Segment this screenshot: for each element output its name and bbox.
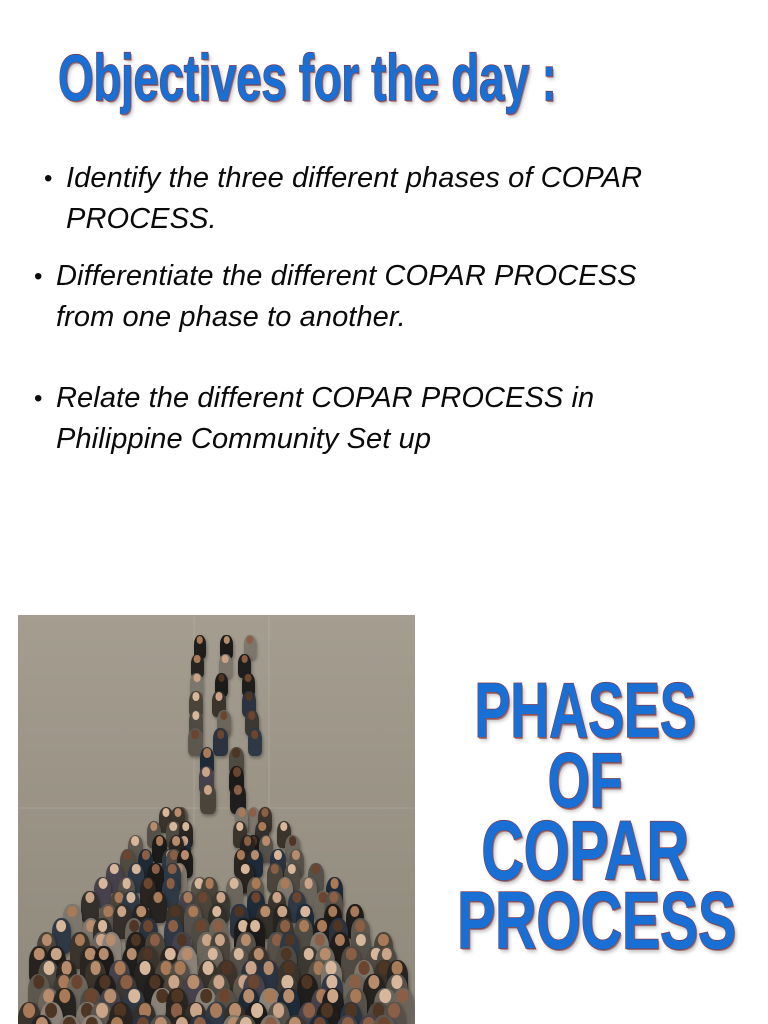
crowd-person-head — [153, 892, 162, 903]
crowd-person-head — [68, 906, 77, 918]
crowd-person-head — [105, 989, 117, 1003]
crowd-person-head — [350, 906, 359, 918]
crowd-person-head — [222, 655, 229, 663]
crowd-person-head — [204, 785, 212, 795]
crowd-person-head — [304, 878, 313, 889]
crowd-person-head — [182, 822, 189, 831]
crowd-person-head — [149, 975, 160, 989]
crowd-person-head — [171, 906, 180, 918]
crowd-person-head — [262, 836, 270, 846]
crowd-person-head — [216, 892, 225, 903]
crowd-person-head — [110, 864, 118, 874]
crowd-person-head — [289, 1017, 301, 1024]
crowd-person-head — [241, 864, 249, 874]
list-item: • Relate the different COPAR PROCESS in … — [34, 378, 768, 460]
crowd-person-head — [326, 961, 337, 974]
title-area: Objectives for the day : — [0, 40, 768, 130]
crowd-person-head — [170, 822, 177, 831]
crowd-person-head — [314, 1017, 326, 1024]
crowd-person-head — [98, 878, 107, 889]
crowd-person-head — [86, 1017, 98, 1024]
crowd-person-head — [196, 920, 206, 932]
crowd-person-head — [199, 892, 208, 903]
crowd-person-head — [235, 906, 244, 918]
crowd-person-head — [188, 975, 199, 989]
crowd-person-head — [203, 961, 214, 974]
crowd-person-head — [221, 961, 232, 974]
crowd-person-head — [217, 730, 225, 739]
crowd-person-head — [90, 961, 101, 974]
crowd-person-head — [182, 948, 193, 961]
crowd-person-head — [251, 878, 260, 889]
crowd-person-head — [223, 636, 229, 644]
bullet-marker-icon: • — [34, 256, 56, 297]
crowd-person-head — [51, 948, 62, 961]
crowd-person-head — [330, 878, 339, 889]
crowd-person-head — [251, 730, 259, 739]
crowd-person-head — [265, 1017, 277, 1024]
crowd-person-head — [86, 892, 95, 903]
list-item-text: Relate the different COPAR PROCESS in Ph… — [56, 378, 768, 460]
crowd-person-head — [183, 892, 192, 903]
crowd-person-head — [241, 655, 248, 663]
crowd-person-head — [114, 961, 125, 974]
crowd-person-head — [346, 948, 357, 961]
crowd-person-head — [271, 864, 279, 874]
crowd-person-head — [233, 748, 241, 757]
crowd-person-head — [205, 878, 214, 889]
crowd-person-head — [283, 961, 294, 974]
pavement-seam — [268, 615, 270, 811]
crowd-person-head — [212, 906, 221, 918]
crowd-person-head — [303, 948, 314, 961]
crowd-person-head — [288, 864, 296, 874]
crowd-person-head — [98, 948, 109, 961]
crowd-person-head — [218, 674, 225, 682]
crowd-person-head — [289, 836, 297, 846]
crowd-person-head — [368, 975, 379, 989]
crowd-person-head — [168, 864, 176, 874]
crowd-person-head — [207, 948, 218, 961]
crowd-person-head — [281, 948, 292, 961]
crowd-person-head — [33, 975, 44, 989]
crowd-person-head — [129, 920, 139, 932]
crowd-person-head — [248, 711, 255, 720]
crowd-person-head — [117, 906, 126, 918]
crowd-person-head — [317, 920, 327, 932]
crowd-person-head — [188, 906, 197, 918]
crowd-person-head — [193, 674, 200, 682]
crowd-person-head — [359, 961, 370, 974]
crowd-person-head — [59, 989, 71, 1003]
crowd-person-head — [143, 920, 153, 932]
crowd-person-head — [106, 934, 116, 946]
crowd-person-head — [245, 674, 252, 682]
crowd-person-head — [34, 948, 45, 961]
crowd-person-head — [397, 989, 409, 1003]
crowd-person-head — [272, 892, 281, 903]
bullet-marker-icon: • — [44, 158, 66, 199]
crowd-person-head — [334, 920, 344, 932]
crowd-person-head — [382, 948, 393, 961]
crowd-person-head — [35, 1017, 47, 1024]
crowd-person-head — [150, 822, 157, 831]
crowd-person-head — [162, 808, 169, 817]
crowd-person-head — [378, 1017, 390, 1024]
crowd-person-head — [192, 711, 199, 720]
crowd-person-head — [341, 1017, 353, 1024]
crowd-person-head — [250, 808, 257, 817]
crowd-person-head — [142, 948, 153, 961]
crowd-person-head — [75, 934, 85, 946]
crowd-person — [200, 784, 216, 813]
crowd-person-head — [132, 836, 140, 846]
crowd-person-head — [329, 892, 338, 903]
crowd-person-head — [61, 961, 72, 974]
crowd-person-head — [194, 655, 201, 663]
crowd-person-head — [151, 864, 159, 874]
crowd-person-head — [238, 808, 245, 817]
crowd-photo — [18, 615, 415, 1024]
crowd-person-head — [302, 975, 313, 989]
crowd-person-head — [262, 808, 269, 817]
crowd-person-head — [261, 906, 270, 918]
crowd-person-head — [247, 636, 253, 644]
crowd-person-head — [277, 906, 286, 918]
crowd-person-head — [175, 808, 182, 817]
crowd-person-head — [293, 892, 302, 903]
crowd-person-head — [132, 864, 140, 874]
crowd-person-head — [241, 934, 251, 946]
crowd-person-head — [24, 1003, 36, 1018]
crowd-person-head — [172, 836, 180, 846]
crowd-person-head — [253, 948, 264, 961]
slide: Objectives for the day : • Identify the … — [0, 0, 768, 1024]
crowd-person-head — [356, 934, 366, 946]
crowd-person-head — [320, 948, 331, 961]
crowd-person-head — [103, 906, 112, 918]
crowd-person-head — [215, 934, 225, 946]
crowd-person-head — [193, 692, 200, 701]
list-item: • Identify the three different phases of… — [44, 158, 768, 240]
crowd-person-head — [234, 948, 245, 961]
crowd-person-head — [122, 878, 131, 889]
bullet-marker-icon: • — [34, 378, 56, 419]
crowd-person-head — [285, 934, 295, 946]
crowd-person-head — [220, 711, 227, 720]
crowd-person-head — [46, 1003, 58, 1018]
crowd-person-head — [251, 892, 260, 903]
crowd-person-head — [264, 989, 276, 1003]
crowd-person-head — [219, 989, 231, 1003]
crowd-person-head — [181, 850, 189, 860]
crowd-person-head — [274, 850, 282, 860]
crowd-person-head — [166, 878, 175, 889]
crowd-person-head — [311, 864, 319, 874]
crowd-person-head — [234, 785, 242, 795]
pavement-seam — [18, 807, 415, 809]
crowd-person-head — [328, 906, 337, 918]
crowd-person-head — [144, 878, 153, 889]
crowd-person-head — [202, 767, 210, 777]
crowd-person-head — [251, 1003, 263, 1018]
crowd-person-head — [210, 1003, 222, 1018]
crowd-person-head — [213, 920, 223, 932]
crowd-person-head — [126, 948, 137, 961]
crowd-person-head — [121, 975, 132, 989]
list-item-text: Identify the three different phases of C… — [66, 158, 716, 240]
crowd-person-head — [280, 822, 287, 831]
crowd-person-head — [246, 961, 257, 974]
crowd-person-head — [201, 989, 213, 1003]
crowd-person-head — [168, 920, 178, 932]
crowd-person-head — [259, 822, 266, 831]
crowd-person-head — [355, 920, 365, 932]
crowd-person-head — [175, 961, 186, 974]
crowd-person — [213, 728, 227, 755]
crowd-person-head — [388, 1003, 400, 1018]
crowd-person-head — [111, 1017, 123, 1024]
crowd-person-head — [245, 692, 252, 701]
crowd-person-head — [244, 836, 252, 846]
crowd-person-head — [98, 920, 108, 932]
crowd-person-head — [283, 989, 295, 1003]
crowd-person-head — [299, 920, 309, 932]
crowd-person-head — [165, 948, 176, 961]
crowd-person-head — [177, 934, 187, 946]
phases-line-4: PROCESS — [457, 881, 713, 961]
crowd-person-head — [240, 1017, 252, 1024]
crowd-person-head — [56, 920, 66, 932]
phases-heading: PHASES OF COPAR PROCESS — [425, 676, 745, 956]
crowd-person-head — [127, 892, 136, 903]
crowd-person-head — [42, 934, 52, 946]
list-item-text: Differentiate the different COPAR PROCES… — [56, 256, 736, 338]
crowd-person-head — [155, 1017, 167, 1024]
crowd-person-head — [236, 822, 243, 831]
crowd-person-head — [176, 1017, 188, 1024]
crowd-person-head — [137, 1017, 149, 1024]
crowd-person-head — [194, 1017, 206, 1024]
crowd-person-head — [72, 975, 83, 989]
crowd-person-head — [230, 878, 239, 889]
crowd-person-head — [131, 934, 141, 946]
crowd-person-head — [280, 920, 290, 932]
crowd-person — [248, 728, 262, 755]
crowd-person-head — [150, 934, 160, 946]
crowd-person-head — [203, 748, 211, 757]
crowd-person-head — [197, 636, 203, 644]
crowd-person-head — [43, 961, 54, 974]
crowd-person-head — [281, 878, 290, 889]
crowd-person-head — [263, 961, 274, 974]
crowd-person-head — [303, 1003, 315, 1018]
crowd-person-head — [237, 850, 245, 860]
crowd-person-head — [156, 836, 164, 846]
page-title: Objectives for the day : — [58, 40, 556, 118]
crowd-person-head — [315, 934, 325, 946]
crowd-person-head — [392, 961, 403, 974]
crowd-person-head — [192, 730, 200, 739]
crowd-person-head — [139, 961, 150, 974]
crowd-person-head — [128, 989, 140, 1003]
crowd-person-head — [233, 767, 241, 777]
objectives-list: • Identify the three different phases of… — [0, 158, 768, 460]
crowd-person-head — [123, 850, 131, 860]
crowd-person-head — [63, 1017, 75, 1024]
crowd-person-head — [378, 934, 388, 946]
list-item: • Differentiate the different COPAR PROC… — [34, 256, 768, 338]
crowd-person-head — [301, 906, 310, 918]
crowd-person-head — [142, 850, 150, 860]
crowd-person-head — [335, 934, 345, 946]
crowd-person-head — [250, 920, 260, 932]
crowd-person-head — [136, 906, 145, 918]
crowd-person-head — [251, 850, 259, 860]
crowd-person-head — [215, 692, 222, 701]
crowd-person-head — [292, 850, 300, 860]
